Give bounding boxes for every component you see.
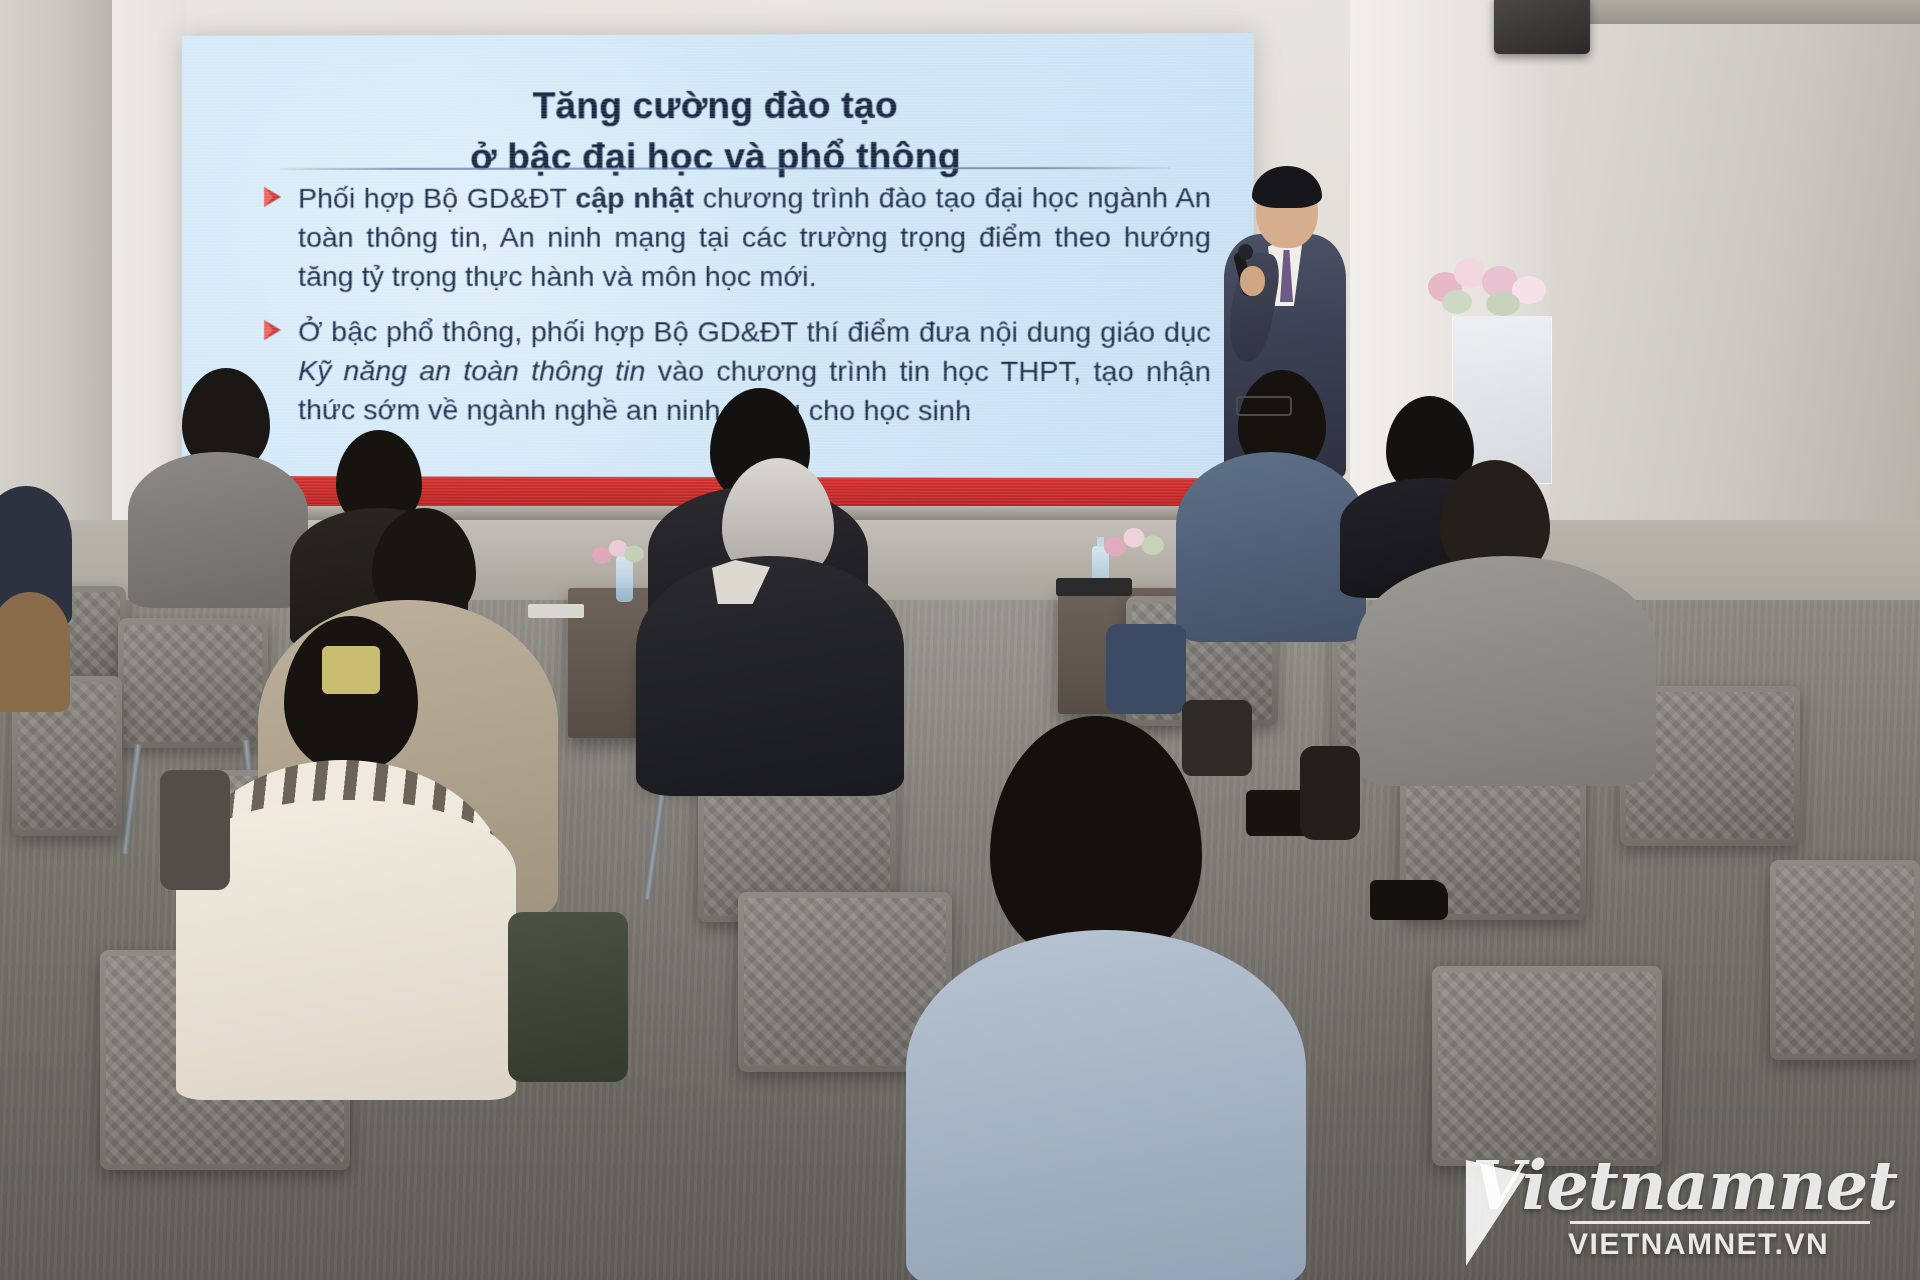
speaker-hand xyxy=(1240,266,1265,296)
ceiling-beam xyxy=(1560,0,1920,24)
ceiling-speaker-icon xyxy=(1494,0,1590,54)
conference-photo-scene: Tăng cường đào tạo ở bậc đại học và phổ … xyxy=(0,0,1920,1280)
hair-clip-icon xyxy=(322,646,380,694)
slide-title-line-2: ở bậc đại học và phổ thông xyxy=(242,131,1192,183)
audience-legs xyxy=(160,770,230,890)
bullet-2-seg-0: Ở bậc phổ thông, phối hợp Bộ GD&ĐT thí đ… xyxy=(298,316,1211,349)
audience-legs xyxy=(1300,746,1360,840)
microphone-head-icon xyxy=(1238,244,1253,260)
flower-arrangement-right-table xyxy=(1104,528,1161,561)
chair xyxy=(1770,860,1920,1060)
audience-shoe xyxy=(1370,880,1448,920)
audience-shoe xyxy=(1182,700,1252,776)
paper-sheet xyxy=(528,604,584,618)
bullet-2-seg-3: học sinh xyxy=(863,395,971,427)
arrow-bullet-icon xyxy=(264,187,281,207)
flower-arrangement-right xyxy=(1424,256,1562,318)
slide-title-line-1: Tăng cường đào tạo xyxy=(242,80,1192,133)
wall-column-left xyxy=(0,0,112,560)
backpack xyxy=(508,912,628,1082)
bullet-1-seg-0: Phối hợp Bộ GD&ĐT xyxy=(298,183,575,215)
laptop xyxy=(1056,578,1132,596)
slide-bullet-1: Phối hợp Bộ GD&ĐT cập nhật chương trình … xyxy=(256,179,1211,297)
chair xyxy=(1432,966,1662,1166)
eyeglasses-icon xyxy=(1236,396,1292,416)
arrow-bullet-icon xyxy=(264,320,281,340)
flower-arrangement-center xyxy=(592,540,641,569)
audience-legs xyxy=(1106,624,1186,714)
bullet-1-seg-1-bold: cập nhật xyxy=(575,183,694,215)
wall-right-far xyxy=(1550,0,1920,540)
chair xyxy=(118,618,268,748)
bullet-2-seg-1-italic: Kỹ năng an toàn thông tin xyxy=(298,355,645,387)
